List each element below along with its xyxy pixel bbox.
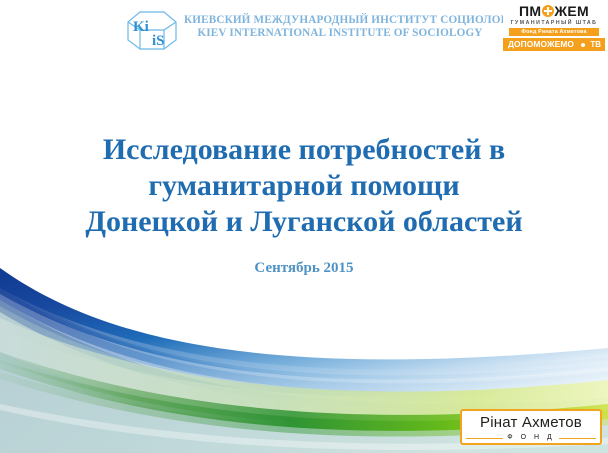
institute-name-block: КИЕВСКИЙ МЕЖДУНАРОДНЫЙ ИНСТИТУТ СОЦИОЛОГ… [184,14,496,40]
orange-cross-circle-icon [542,5,554,17]
pomozhem-word-part1: П [519,4,529,19]
title-line-3: Донецкой и Луганской областей [0,204,608,240]
akhmetov-name: Рінат Ахметов [462,412,600,434]
slide-header: Ki iS КИЕВСКИЙ МЕЖДУНАРОДНЫЙ ИНСТИТУТ СО… [0,0,608,52]
slide-title: Исследование потребностей в гуманитарной… [0,132,608,240]
pomozhem-word-part3: ЖЕМ [554,4,589,19]
institute-name-en: KIEV INTERNATIONAL INSTITUTE OF SOCIOLOG… [184,27,496,40]
pomozhem-wordmark: П М ЖЕМ [503,3,605,19]
svg-text:iS: iS [152,33,165,49]
akhmetov-fond-row: Ф О Н Д [462,433,600,443]
title-line-1: Исследование потребностей в [0,132,608,168]
akhmetov-fond-label: Ф О Н Д [507,433,554,443]
svg-text:Ki: Ki [133,19,149,35]
presentation-slide: Ki iS КИЕВСКИЙ МЕЖДУНАРОДНЫЙ ИНСТИТУТ СО… [0,0,608,453]
rule-left [466,438,503,439]
title-line-2: гуманитарной помощи [0,168,608,204]
tv-label: ТВ [579,38,605,51]
dopomozhemo-label: ДОПОМОЖЕМО [503,38,579,51]
kiis-cube-logo-icon: Ki iS [120,9,184,51]
pomozhem-subtitle: ГУМАНИТАРНЫЙ ШТАБ [503,19,605,27]
pomozhem-humanitarian-hq-logo[interactable]: П М ЖЕМ ГУМАНИТАРНЫЙ ШТАБ Фонд Рината Ах… [503,2,605,48]
institute-name-ru: КИЕВСКИЙ МЕЖДУНАРОДНЫЙ ИНСТИТУТ СОЦИОЛОГ… [184,14,496,27]
dopomozhemo-tv-bar[interactable]: ДОПОМОЖЕМО ТВ [503,38,605,51]
pomozhem-word-part2: М [529,4,541,19]
rinat-akhmetov-foundation-logo[interactable]: Рінат Ахметов Ф О Н Д [460,409,602,445]
pomozhem-fund-line: Фонд Рината Ахметова [509,28,599,36]
rule-right [559,438,596,439]
slide-date-subtitle: Сентябрь 2015 [0,258,608,278]
